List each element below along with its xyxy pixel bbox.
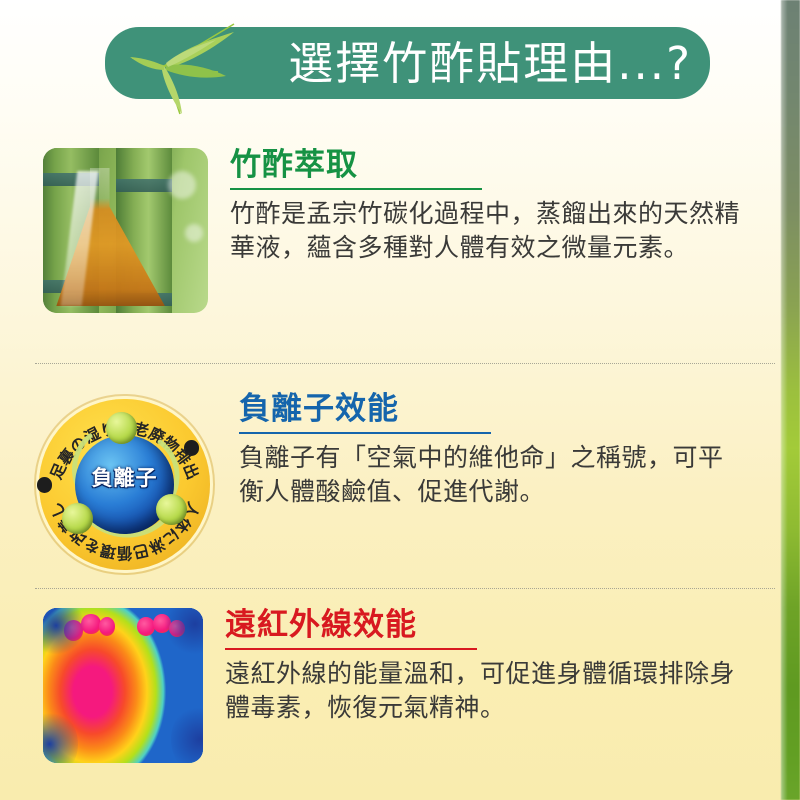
header-banner: 選擇竹酢貼理由...? [105,27,710,99]
section-divider [35,363,775,364]
section-negative-ion-effect: 足裏の湿り気老廃物排出 人体に淋巴循環を改善し 負離子 [0,392,800,577]
page-title: 選擇竹酢貼理由...? [288,41,692,86]
section-divider [35,588,775,589]
section-far-infrared-effect: 遠紅外線效能 遠紅外線的能量溫和，可促進身體循環排除身體毒素，恢復元氣精神。 [0,608,800,763]
section-title: 遠紅外線效能 [225,608,740,643]
section-title-rule [225,648,477,650]
section-body: 負離子有「空氣中的維他命」之稱號，可平衡人體酸鹼值、促進代謝。 [239,441,740,510]
section-text-block: 竹酢萃取 竹酢是孟宗竹碳化過程中，蒸餾出來的天然精華液，蘊含多種對人體有效之微量… [230,148,800,266]
badge-core-label: 負離子 [32,462,217,492]
thermal-feet-photo [43,608,203,763]
section-body: 遠紅外線的能量溫和，可促進身體循環排除身體毒素，恢復元氣精神。 [225,657,740,726]
negative-ion-badge: 足裏の湿り気老廃物排出 人体に淋巴循環を改善し 負離子 [32,392,217,577]
section-title-rule [239,432,491,434]
section-title: 負離子效能 [239,392,740,427]
ion-particle [106,412,137,443]
poster-page: 選擇竹酢貼理由...? 竹酢萃取 竹 [0,0,800,800]
bamboo-vinegar-flask-photo [43,148,208,313]
section-title: 竹酢萃取 [230,148,740,183]
section-title-rule [230,188,482,190]
section-bamboo-vinegar-extract: 竹酢萃取 竹酢是孟宗竹碳化過程中，蒸餾出來的天然精華液，蘊含多種對人體有效之微量… [0,148,800,313]
section-body: 竹酢是孟宗竹碳化過程中，蒸餾出來的天然精華液，蘊含多種對人體有效之微量元素。 [230,197,740,266]
section-text-block: 遠紅外線效能 遠紅外線的能量溫和，可促進身體循環排除身體毒素，恢復元氣精神。 [225,608,800,726]
section-text-block: 負離子效能 負離子有「空氣中的維他命」之稱號，可平衡人體酸鹼值、促進代謝。 [239,392,800,510]
